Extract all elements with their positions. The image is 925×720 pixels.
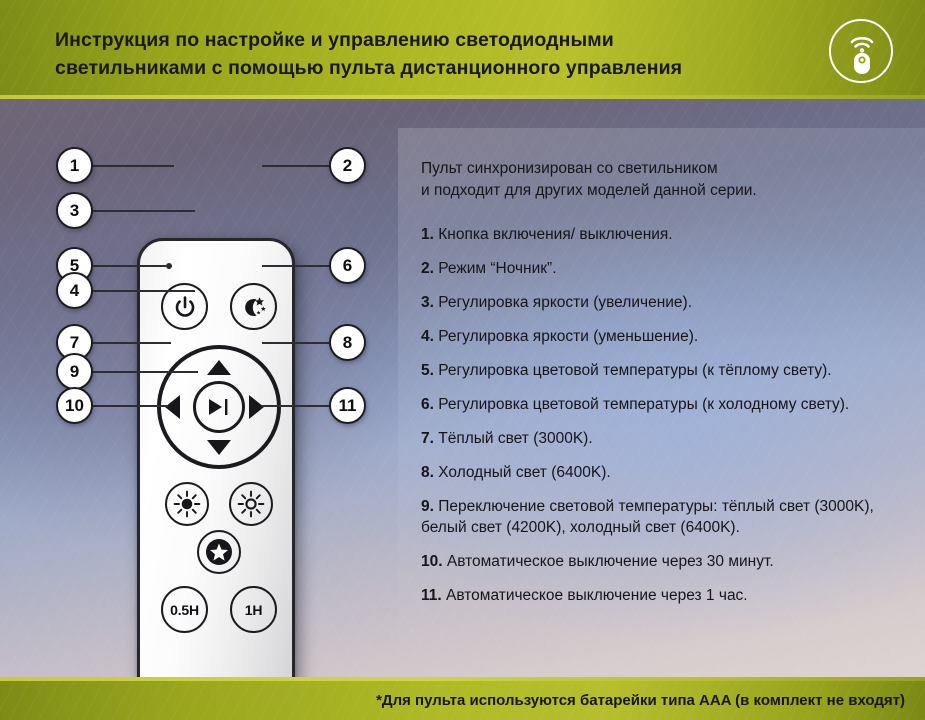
info-item-number: 5. bbox=[421, 362, 434, 379]
info-item-number: 8. bbox=[421, 464, 434, 481]
timer-30min-button[interactable]: 0.5H bbox=[161, 586, 208, 633]
info-item-number: 2. bbox=[421, 260, 434, 277]
callout-6[interactable]: 6 bbox=[329, 247, 366, 284]
remote-control-icon bbox=[829, 19, 893, 83]
callout-10[interactable]: 10 bbox=[56, 387, 93, 424]
ir-led-dot bbox=[166, 263, 172, 269]
callout-11[interactable]: 11 bbox=[329, 387, 366, 424]
instruction-page: Инструкция по настройке и управлению све… bbox=[0, 0, 925, 720]
info-item: 4. Регулировка яркости (уменьшение). bbox=[421, 326, 891, 347]
info-item: 6. Регулировка цветовой температуры (к х… bbox=[421, 394, 891, 415]
battery-note: *Для пульта используются батарейки типа … bbox=[0, 681, 905, 720]
info-item-text: Регулировка яркости (уменьшение). bbox=[434, 328, 698, 345]
info-list: 1. Кнопка включения/ выключения.2. Режим… bbox=[421, 224, 891, 606]
timer-1hour-label: 1H bbox=[245, 603, 263, 617]
callout-1[interactable]: 1 bbox=[56, 147, 93, 184]
info-item-number: 7. bbox=[421, 430, 434, 447]
info-item: 5. Регулировка цветовой температуры (к т… bbox=[421, 360, 891, 381]
info-item: 8. Холодный свет (6400K). bbox=[421, 462, 891, 483]
info-item-text: Регулировка цветовой температуры (к тёпл… bbox=[434, 362, 832, 379]
main-stage: 1 3 5 4 7 9 10 2 6 8 11 bbox=[0, 99, 925, 677]
moon-stars-icon bbox=[239, 292, 269, 322]
info-item: 9. Переключение световой температуры: тё… bbox=[421, 496, 891, 538]
info-item-text: Холодный свет (6400K). bbox=[434, 464, 611, 481]
info-item-text: Регулировка цветовой температуры (к холо… bbox=[434, 396, 849, 413]
info-item: 11. Автоматическое выключение через 1 ча… bbox=[421, 585, 891, 606]
power-icon bbox=[173, 295, 197, 319]
info-item-number: 3. bbox=[421, 294, 434, 311]
play-pause-button[interactable] bbox=[193, 381, 245, 433]
callout-8[interactable]: 8 bbox=[329, 324, 366, 361]
info-intro: Пульт синхронизирован со светильником и … bbox=[421, 158, 891, 202]
leader-line-9 bbox=[78, 371, 198, 373]
play-pause-icon bbox=[204, 396, 234, 418]
info-item-number: 11. bbox=[421, 587, 442, 604]
info-item: 3. Регулировка яркости (увеличение). bbox=[421, 292, 891, 313]
arrow-left-icon[interactable] bbox=[165, 395, 180, 419]
star-filled-icon bbox=[203, 536, 235, 568]
page-title-line-1: Инструкция по настройке и управлению све… bbox=[55, 26, 755, 54]
info-item: 2. Режим “Ночник”. bbox=[421, 258, 891, 279]
info-item-number: 4. bbox=[421, 328, 434, 345]
info-item-text: Автоматическое выключение через 1 час. bbox=[442, 587, 748, 604]
callout-2[interactable]: 2 bbox=[329, 147, 366, 184]
night-mode-button[interactable] bbox=[230, 283, 277, 330]
page-title: Инструкция по настройке и управлению све… bbox=[55, 26, 755, 82]
info-item-number: 9. bbox=[421, 498, 434, 515]
info-item-text: Автоматическое выключение через 30 минут… bbox=[443, 553, 774, 570]
info-item: 10. Автоматическое выключение через 30 м… bbox=[421, 551, 891, 572]
info-item-number: 1. bbox=[421, 226, 434, 243]
callout-4[interactable]: 4 bbox=[56, 272, 93, 309]
cool-light-button[interactable] bbox=[229, 482, 273, 526]
info-item-text: Тёплый свет (3000K). bbox=[434, 430, 593, 447]
color-temp-cycle-button[interactable] bbox=[197, 530, 241, 574]
timer-1hour-button[interactable]: 1H bbox=[230, 586, 277, 633]
info-item-number: 6. bbox=[421, 396, 434, 413]
info-item-text: Переключение световой температуры: тёплы… bbox=[421, 498, 874, 536]
info-item-number: 10. bbox=[421, 553, 443, 570]
info-item: 7. Тёплый свет (3000K). bbox=[421, 428, 891, 449]
timer-30min-label: 0.5H bbox=[170, 603, 199, 617]
remote-control-body: 0.5H 1H AMBRELLA LIGHT bbox=[137, 238, 295, 677]
callout-9[interactable]: 9 bbox=[56, 353, 93, 390]
sun-filled-icon bbox=[172, 489, 202, 519]
arrow-up-icon[interactable] bbox=[207, 360, 231, 375]
callout-3[interactable]: 3 bbox=[56, 192, 93, 229]
sun-outline-icon bbox=[236, 489, 266, 519]
info-item-text: Режим “Ночник”. bbox=[434, 260, 557, 277]
leader-line-4 bbox=[78, 290, 195, 292]
arrow-down-icon[interactable] bbox=[207, 440, 231, 455]
info-column: Пульт синхронизирован со светильником и … bbox=[421, 158, 891, 619]
info-item: 1. Кнопка включения/ выключения. bbox=[421, 224, 891, 245]
info-intro-line-2: и подходит для других моделей данной сер… bbox=[421, 180, 891, 202]
info-item-text: Регулировка яркости (увеличение). bbox=[434, 294, 692, 311]
info-item-text: Кнопка включения/ выключения. bbox=[434, 226, 673, 243]
warm-light-button[interactable] bbox=[165, 482, 209, 526]
leader-line-3 bbox=[78, 210, 195, 212]
header-band: Инструкция по настройке и управлению све… bbox=[0, 0, 925, 95]
page-title-line-2: светильниками с помощью пульта дистанцио… bbox=[55, 54, 755, 82]
info-intro-line-1: Пульт синхронизирован со светильником bbox=[421, 158, 891, 180]
arrow-right-icon[interactable] bbox=[249, 395, 264, 419]
